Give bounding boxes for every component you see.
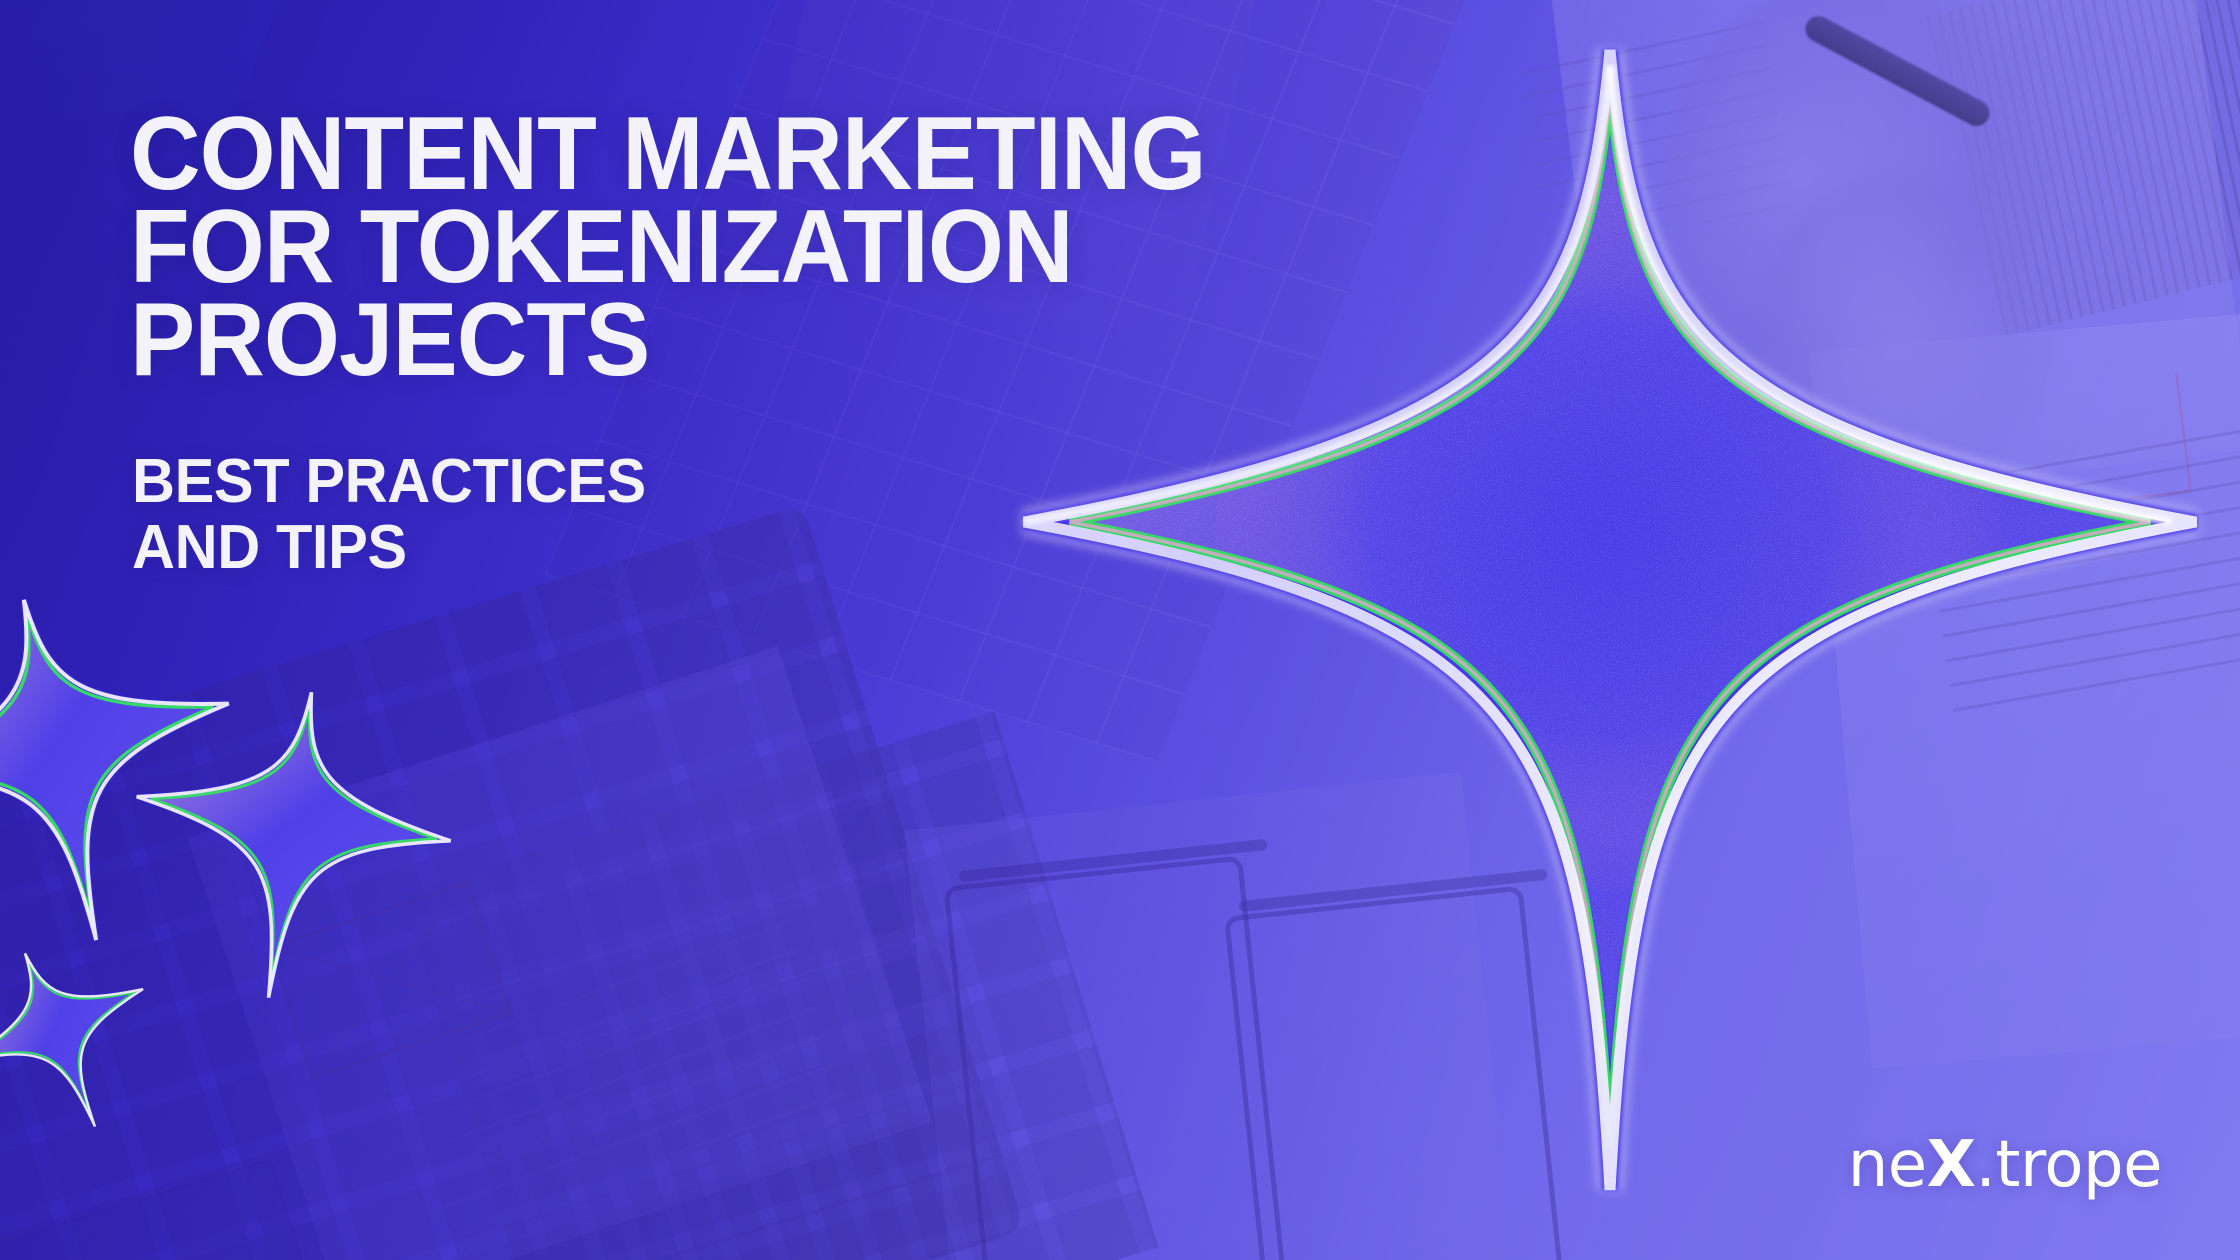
subheadline-line-2: AND TIPS <box>132 515 1320 581</box>
headline-line-2: FOR TOKENIZATION <box>130 201 1296 294</box>
headline-line-3: PROJECTS <box>130 294 1296 387</box>
subheadline-line-1: BEST PRACTICES <box>132 449 1320 515</box>
cover-copy-block: CONTENT MARKETING FOR TOKENIZATION PROJE… <box>130 108 1370 581</box>
nextrope-logo[interactable]: neX.trope <box>1848 1128 2162 1202</box>
page-subtitle: BEST PRACTICES AND TIPS <box>132 449 1320 581</box>
headline-line-1: CONTENT MARKETING <box>130 108 1296 201</box>
logo-x-mark: X <box>1927 1128 1976 1202</box>
logo-prefix: ne <box>1848 1128 1927 1202</box>
page-title: CONTENT MARKETING FOR TOKENIZATION PROJE… <box>130 108 1296 387</box>
article-cover-banner: CONTENT MARKETING FOR TOKENIZATION PROJE… <box>0 0 2240 1260</box>
logo-suffix: .trope <box>1976 1128 2163 1202</box>
